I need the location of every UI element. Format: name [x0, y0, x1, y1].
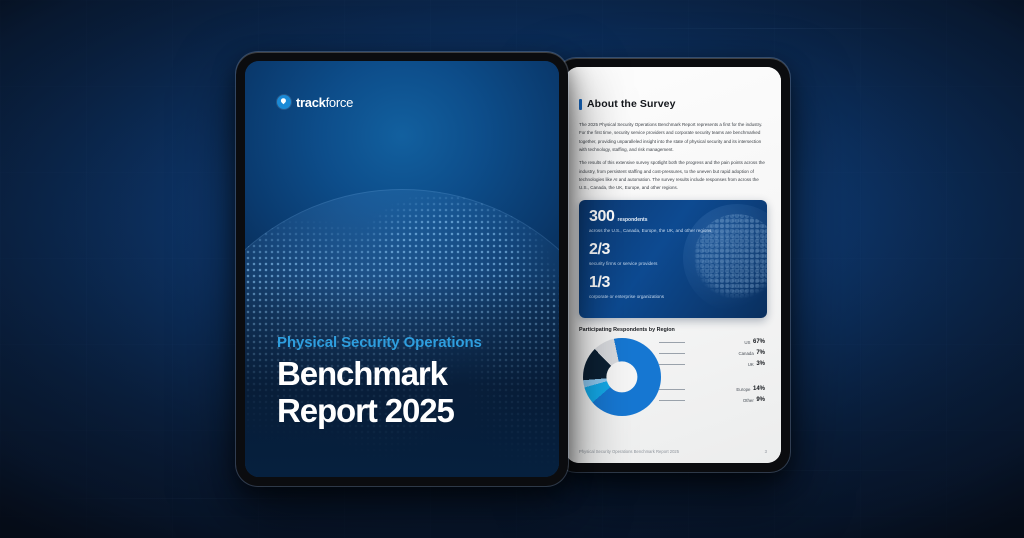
legend-label: UK [748, 362, 754, 367]
stat-unit: respondents [618, 217, 648, 223]
stat-item: 2/3 security firms or service providers [589, 242, 757, 268]
body-paragraph: The results of this extensive survey spo… [579, 159, 767, 192]
legend-leader-line [659, 364, 685, 365]
legend-item: Europe14% [687, 384, 765, 395]
cover-title-line-1: Benchmark [277, 356, 482, 392]
footer-page-number: 3 [765, 449, 767, 454]
report-cover: trackforce Physical Security Operations … [245, 61, 559, 477]
legend-value: 14% [753, 386, 765, 392]
page-title: About the Survey [579, 98, 767, 110]
key-statistics-card: 300 respondents across the U.S., Canada,… [579, 200, 767, 318]
legend-label: Canada [738, 351, 753, 356]
footer-title: Physical Security Operations Benchmark R… [579, 449, 679, 454]
page-body: The 2025 Physical Security Operations Be… [579, 121, 767, 193]
page-title-text: About the Survey [587, 98, 676, 110]
tablet-screen-back: About the Survey The 2025 Physical Secur… [565, 67, 781, 463]
cover-eyebrow: Physical Security Operations [277, 334, 482, 351]
legend-item: Canada7% [687, 348, 765, 359]
chart-legend: US67%Canada7%UK3%Europe14%Other9% [687, 337, 765, 406]
stat-number: 1/3 [589, 275, 610, 291]
legend-leader-line [659, 400, 685, 401]
tablet-screen-front: trackforce Physical Security Operations … [245, 61, 559, 477]
donut-ring [583, 338, 661, 416]
legend-label: Europe [736, 387, 750, 392]
region-chart-block: Participating Respondents by Region US67… [579, 327, 767, 423]
legend-item: US67% [687, 337, 765, 348]
stat-subtitle: across the U.S., Canada, Europe, the UK,… [589, 227, 757, 235]
legend-value: 9% [756, 397, 765, 403]
stat-number: 300 [589, 209, 615, 225]
body-paragraph: The 2025 Physical Security Operations Be… [579, 121, 767, 154]
trackforce-logo: trackforce [277, 95, 353, 109]
stat-item: 1/3 corporate or enterprise organization… [589, 275, 757, 301]
stat-item: 300 respondents across the U.S., Canada,… [589, 209, 757, 235]
stat-number: 2/3 [589, 242, 610, 258]
tablet-device-back: About the Survey The 2025 Physical Secur… [556, 58, 790, 472]
section-marker-icon [579, 99, 582, 110]
legend-leader-line [659, 342, 685, 343]
legend-item: Other9% [687, 395, 765, 406]
trackforce-mark-icon [277, 95, 291, 109]
legend-leader-line [659, 389, 685, 390]
legend-spacer [687, 370, 765, 384]
chart-title: Participating Respondents by Region [579, 327, 767, 333]
stat-subtitle: corporate or enterprise organizations [589, 293, 757, 301]
report-interior-page: About the Survey The 2025 Physical Secur… [565, 67, 781, 463]
tablet-device-front: trackforce Physical Security Operations … [236, 52, 568, 486]
legend-label: Other [743, 398, 754, 403]
logo-name-light: force [326, 95, 353, 110]
donut-chart [583, 338, 661, 416]
legend-value: 3% [756, 361, 765, 367]
trackforce-wordmark: trackforce [296, 96, 353, 109]
cover-title-line-2: Report 2025 [277, 393, 482, 429]
logo-name-bold: track [296, 95, 326, 110]
legend-value: 67% [753, 339, 765, 345]
legend-item: UK3% [687, 359, 765, 370]
legend-label: US [744, 340, 750, 345]
stat-subtitle: security firms or service providers [589, 260, 757, 268]
cover-title-group: Physical Security Operations Benchmark R… [277, 334, 482, 429]
legend-leader-line [659, 353, 685, 354]
legend-value: 7% [756, 350, 765, 356]
page-footer: Physical Security Operations Benchmark R… [579, 449, 767, 454]
